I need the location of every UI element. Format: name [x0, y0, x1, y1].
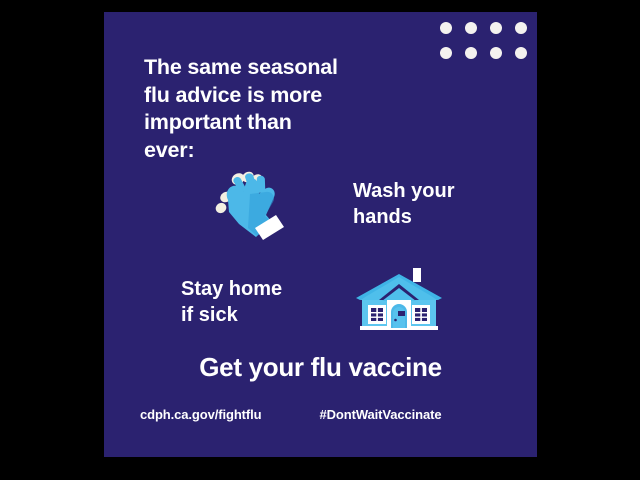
hashtag[interactable]: #DontWaitVaccinate [320, 407, 442, 422]
call-to-action: Get your flu vaccine [104, 352, 537, 383]
dot [490, 47, 502, 59]
headline-line-3: important than [144, 109, 394, 137]
headline-line-2: flu advice is more [144, 82, 394, 110]
dot [440, 47, 452, 59]
headline-line-1: The same seasonal [144, 54, 394, 82]
dot [465, 22, 477, 34]
tip-stay-home-line-1: Stay home [181, 276, 341, 302]
tip-wash-hands-line-1: Wash your [353, 178, 513, 204]
dot [490, 22, 502, 34]
tip-wash-hands-line-2: hands [353, 204, 513, 230]
dot [515, 47, 527, 59]
dot [440, 22, 452, 34]
flu-advice-poster: The same seasonal flu advice is more imp… [104, 12, 537, 457]
headline-line-4: ever: [144, 137, 394, 165]
tip-stay-home-label: Stay home if sick [181, 276, 341, 328]
gloved-hand-icon [210, 170, 286, 244]
footer: cdph.ca.gov/fightflu #DontWaitVaccinate [140, 407, 510, 422]
tip-wash-hands-label: Wash your hands [353, 178, 513, 230]
dot [465, 47, 477, 59]
website-url[interactable]: cdph.ca.gov/fightflu [140, 407, 262, 422]
screenshot-canvas: The same seasonal flu advice is more imp… [0, 0, 640, 480]
headline: The same seasonal flu advice is more imp… [144, 54, 394, 164]
dot [515, 22, 527, 34]
house-icon [354, 264, 444, 334]
dot-grid-decoration [440, 22, 528, 66]
tip-stay-home-line-2: if sick [181, 302, 341, 328]
